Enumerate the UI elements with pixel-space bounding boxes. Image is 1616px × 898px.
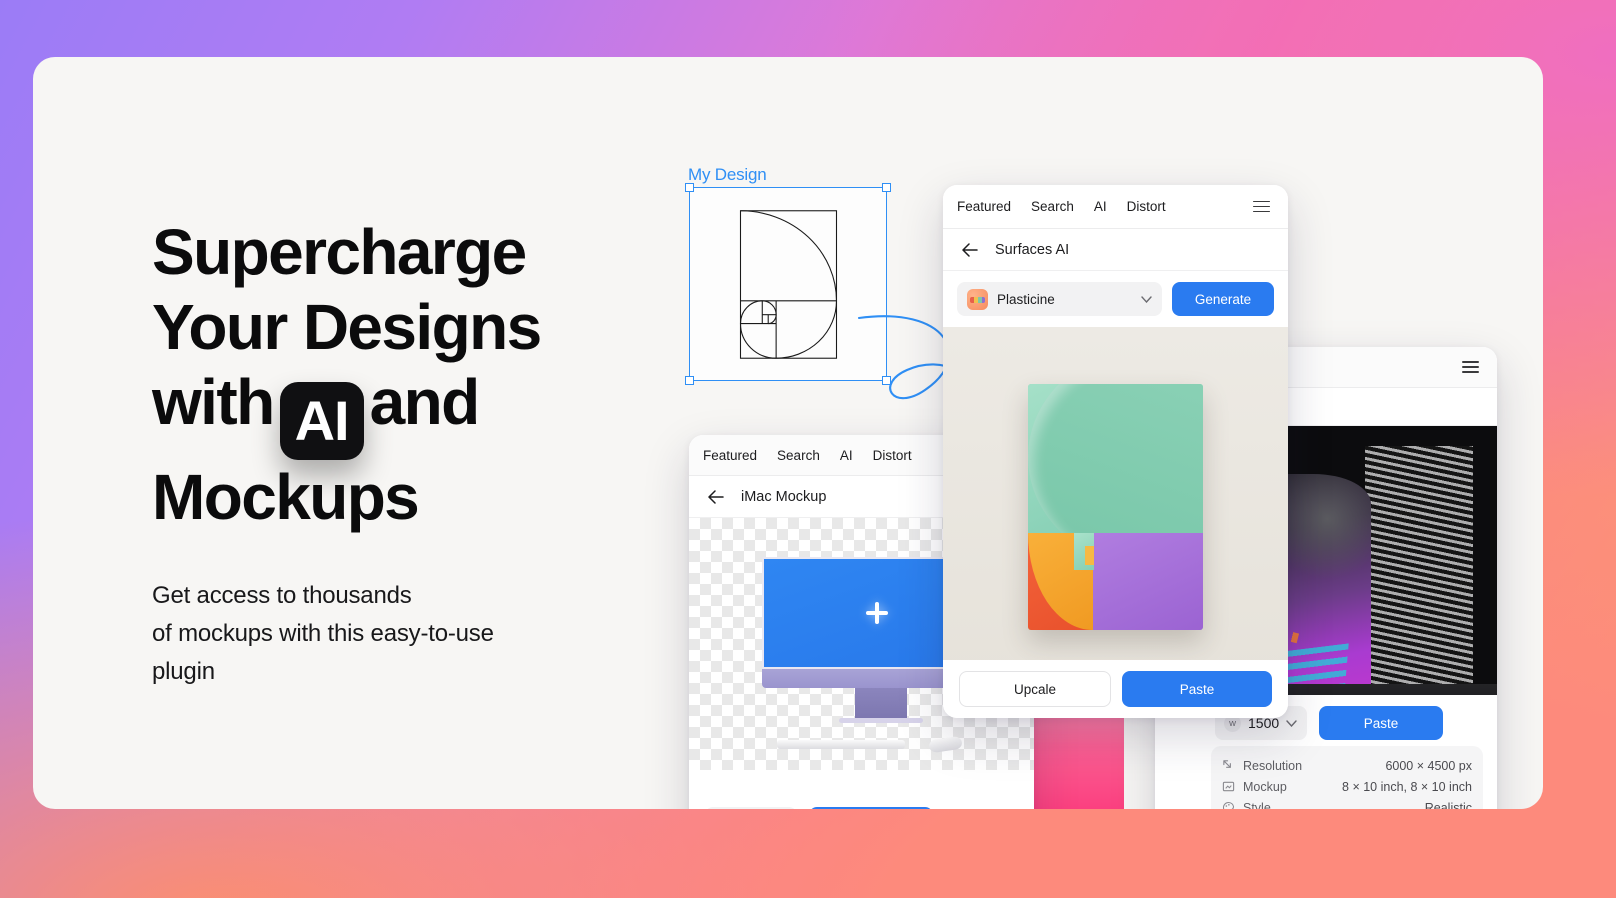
- subtext-line-3: plugin: [152, 653, 552, 691]
- headline-line-1: Supercharge: [152, 215, 632, 290]
- headline-line-3-pre: with: [152, 366, 274, 438]
- mockup-info-card: Resolution 6000 × 4500 px Mockup 8 × 10 …: [1211, 746, 1483, 809]
- selection-handle-bottom-left[interactable]: [685, 376, 694, 385]
- imac-stand-neck: [855, 688, 907, 718]
- upscale-button[interactable]: Upcale: [959, 671, 1111, 707]
- hero-section: Supercharge Your Designs withAIand Mocku…: [152, 215, 632, 691]
- imac-mouse: [928, 736, 962, 753]
- menu-icon[interactable]: [1249, 197, 1274, 217]
- surfaces-panel-title: Surfaces AI: [995, 242, 1069, 258]
- paste-button[interactable]: Paste: [809, 807, 933, 809]
- paste-button[interactable]: Paste: [1122, 671, 1272, 707]
- surfaces-panel-subheader: Surfaces AI: [943, 229, 1288, 271]
- surfaces-panel-tabbar: Featured Search AI Distort: [943, 185, 1288, 229]
- menu-icon[interactable]: [1458, 357, 1483, 377]
- selection-handle-top-right[interactable]: [882, 183, 891, 192]
- resize-icon: [1222, 759, 1235, 772]
- back-arrow-icon[interactable]: [957, 237, 983, 263]
- clay-quadrant-mint: [1028, 384, 1203, 533]
- tab-ai[interactable]: AI: [840, 448, 853, 463]
- style-select[interactable]: Plasticine: [957, 282, 1162, 316]
- hero-subtext: Get access to thousands of mockups with …: [152, 577, 552, 691]
- promo-card: Supercharge Your Designs withAIand Mocku…: [33, 57, 1543, 809]
- back-arrow-icon[interactable]: [703, 484, 729, 510]
- info-value: 8 × 10 inch, 8 × 10 inch: [1342, 780, 1472, 794]
- info-row-mockup: Mockup 8 × 10 inch, 8 × 10 inch: [1222, 776, 1472, 797]
- info-row-style: Style Realistic: [1222, 797, 1472, 809]
- generate-controls-row: Plasticine Generate: [943, 271, 1288, 327]
- imac-stand-foot: [839, 718, 923, 723]
- info-row-resolution: Resolution 6000 × 4500 px: [1222, 755, 1472, 776]
- selection-label: My Design: [688, 165, 767, 185]
- subtext-line-1: Get access to thousands: [152, 577, 552, 615]
- fabric-backdrop-wall: [1365, 446, 1473, 696]
- tab-ai[interactable]: AI: [1094, 199, 1107, 214]
- add-image-plus-icon[interactable]: [864, 600, 890, 626]
- width-stepper[interactable]: w 1500: [705, 807, 797, 809]
- frame-icon: [1222, 780, 1235, 793]
- tab-search[interactable]: Search: [777, 448, 820, 463]
- headline-line-3: withAIand: [152, 365, 632, 460]
- headline-line-4: Mockups: [152, 460, 632, 535]
- page-title: Supercharge Your Designs withAIand Mocku…: [152, 215, 632, 535]
- palette-icon: [1222, 801, 1235, 809]
- info-label: Mockup: [1243, 780, 1287, 794]
- tab-featured[interactable]: Featured: [957, 199, 1011, 214]
- paste-button[interactable]: Paste: [1319, 706, 1443, 740]
- selection-handle-top-left[interactable]: [685, 183, 694, 192]
- chevron-down-icon: [1141, 296, 1152, 303]
- imac-panel-title: iMac Mockup: [741, 489, 826, 505]
- surfaces-ai-panel: Featured Search AI Distort Surfaces AI P…: [943, 185, 1288, 718]
- imac-keyboard: [777, 740, 905, 749]
- info-value: Realistic: [1425, 801, 1472, 810]
- imac-panel-footer: w 1500 Paste: [689, 793, 1034, 809]
- style-select-value: Plasticine: [997, 292, 1055, 307]
- headline-line-2: Your Designs: [152, 290, 632, 365]
- plasticine-swatch-icon: [967, 289, 988, 310]
- generate-button[interactable]: Generate: [1172, 282, 1274, 316]
- headline-line-3-post: and: [370, 366, 479, 438]
- info-label: Resolution: [1243, 759, 1302, 773]
- tab-search[interactable]: Search: [1031, 199, 1074, 214]
- tab-distort[interactable]: Distort: [1127, 199, 1166, 214]
- surfaces-panel-footer: Upcale Paste: [943, 660, 1288, 718]
- subtext-line-2: of mockups with this easy-to-use: [152, 615, 552, 653]
- plasticine-fibonacci-render: [1028, 384, 1203, 630]
- tab-distort[interactable]: Distort: [873, 448, 912, 463]
- clay-quadrant-mini-yellow: [1085, 546, 1094, 564]
- tab-featured[interactable]: Featured: [703, 448, 757, 463]
- info-label: Style: [1243, 801, 1271, 810]
- chevron-down-icon: [1286, 720, 1297, 727]
- ai-badge: AI: [280, 382, 364, 460]
- clay-quadrant-purple: [1093, 533, 1203, 630]
- ai-render-preview[interactable]: [943, 327, 1288, 687]
- info-value: 6000 × 4500 px: [1385, 759, 1472, 773]
